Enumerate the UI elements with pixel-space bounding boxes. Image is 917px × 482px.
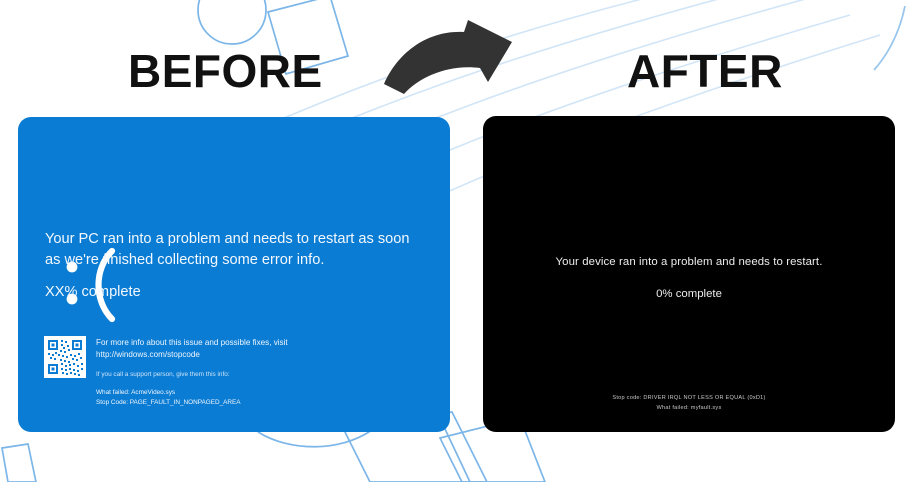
before-footer: For more info about this issue and possi… — [44, 336, 434, 408]
before-stop-code: Stop Code: PAGE_FAULT_IN_NONPAGED_AREA — [96, 398, 434, 408]
before-bsod-screen: Your PC ran into a problem and needs to … — [18, 117, 450, 432]
before-heading: BEFORE — [128, 44, 323, 98]
before-headline-text: Your PC ran into a problem and needs to … — [45, 229, 425, 270]
after-stop-code: Stop code: DRIVER IRQL NOT LESS OR EQUAL… — [483, 394, 895, 404]
arrow-container — [376, 18, 536, 98]
support-person-line: If you call a support person, give them … — [96, 370, 434, 380]
before-what-failed: What failed: AcmeVideo.sys — [96, 388, 434, 398]
after-headline-text: Your device ran into a problem and needs… — [483, 256, 895, 268]
after-bsod-screen: Your device ran into a problem and needs… — [483, 116, 895, 432]
comparison-graphic: BEFORE AFTER Your PC ran into a problem … — [0, 0, 917, 482]
qr-code-icon — [44, 336, 86, 378]
curved-arrow-right-icon — [376, 18, 536, 98]
after-what-failed: What failed: myfault.sys — [483, 404, 895, 414]
after-footer: Stop code: DRIVER IRQL NOT LESS OR EQUAL… — [483, 394, 895, 413]
before-progress-text: XX% complete — [45, 284, 141, 300]
before-footer-text: For more info about this issue and possi… — [96, 336, 434, 408]
after-progress-text: 0% complete — [483, 288, 895, 300]
more-info-line-1: For more info about this issue and possi… — [96, 337, 434, 349]
stopcode-url[interactable]: http://windows.com/stopcode — [96, 349, 434, 361]
after-heading: AFTER — [627, 44, 783, 98]
